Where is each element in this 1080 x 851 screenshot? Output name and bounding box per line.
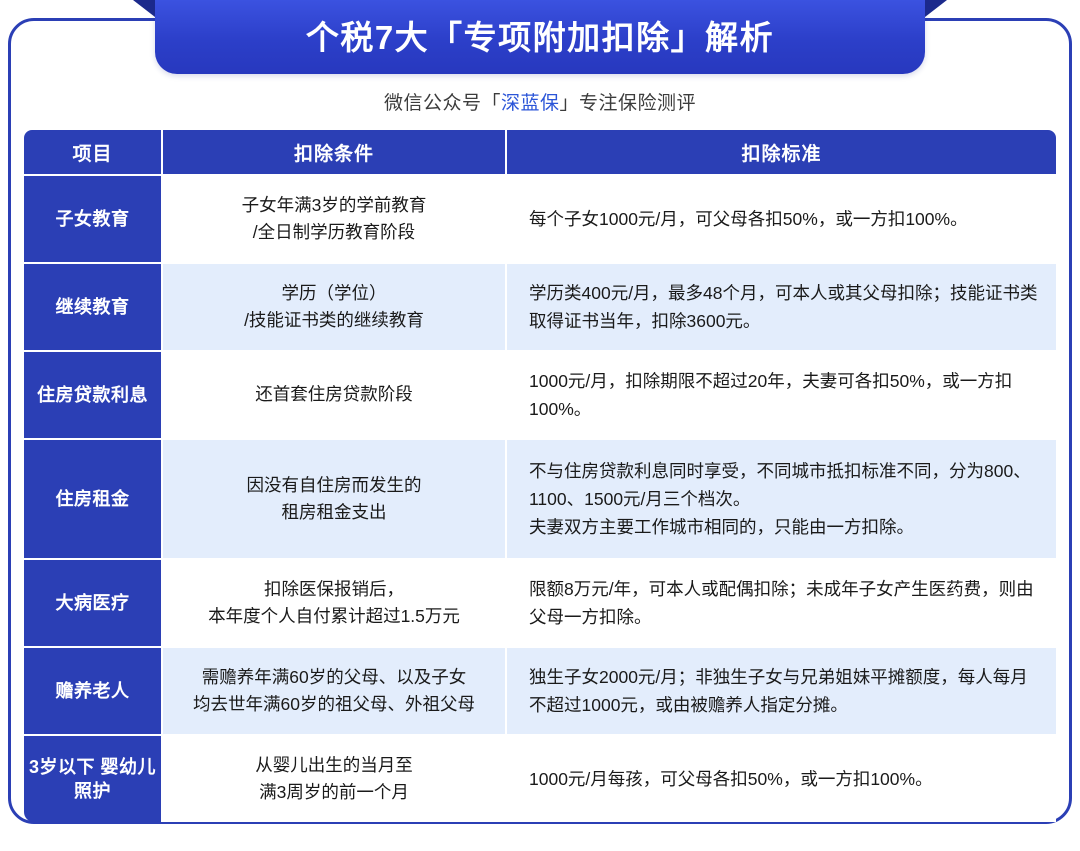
cell-condition: 子女年满3岁的学前教育 /全日制学历教育阶段 (163, 176, 507, 262)
cell-item-name: 住房租金 (24, 440, 163, 558)
subtitle: 微信公众号「深蓝保」专注保险测评 (0, 88, 1080, 115)
cell-condition: 因没有自住房而发生的 租房租金支出 (163, 440, 507, 558)
cell-item-name: 子女教育 (24, 176, 163, 262)
cell-standard: 不与住房贷款利息同时享受，不同城市抵扣标准不同，分为800、1100、1500元… (507, 440, 1056, 558)
infographic-page: 个税7大「专项附加扣除」解析 微信公众号「深蓝保」专注保险测评 深蓝保 shen… (0, 0, 1080, 851)
cell-standard: 每个子女1000元/月，可父母各扣50%，或一方扣100%。 (507, 176, 1056, 262)
column-header-item: 项目 (24, 130, 163, 174)
page-title: 个税7大「专项附加扣除」解析 (306, 21, 774, 54)
cell-condition: 还首套住房贷款阶段 (163, 352, 507, 438)
deduction-table: 项目 扣除条件 扣除标准 子女教育子女年满3岁的学前教育 /全日制学历教育阶段每… (24, 130, 1056, 822)
table-row: 大病医疗扣除医保报销后， 本年度个人自付累计超过1.5万元限额8万元/年，可本人… (24, 558, 1056, 646)
cell-condition: 从婴儿出生的当月至 满3周岁的前一个月 (163, 736, 507, 822)
table-row: 赡养老人需赡养年满60岁的父母、以及子女 均去世年满60岁的祖父母、外祖父母独生… (24, 646, 1056, 734)
table-header: 项目 扣除条件 扣除标准 (24, 130, 1056, 174)
subtitle-prefix: 微信公众号「 (384, 93, 501, 114)
cell-standard: 1000元/月，扣除期限不超过20年，夫妻可各扣50%，或一方扣100%。 (507, 352, 1056, 438)
table-row: 继续教育学历（学位） /技能证书类的继续教育学历类400元/月，最多48个月，可… (24, 262, 1056, 350)
cell-condition: 扣除医保报销后， 本年度个人自付累计超过1.5万元 (163, 560, 507, 646)
cell-item-name: 住房贷款利息 (24, 352, 163, 438)
cell-standard: 限额8万元/年，可本人或配偶扣除；未成年子女产生医药费，则由父母一方扣除。 (507, 560, 1056, 646)
ribbon-fold-left-icon (133, 0, 155, 17)
column-header-condition: 扣除条件 (163, 130, 507, 174)
table-row: 子女教育子女年满3岁的学前教育 /全日制学历教育阶段每个子女1000元/月，可父… (24, 174, 1056, 262)
cell-condition: 需赡养年满60岁的父母、以及子女 均去世年满60岁的祖父母、外祖父母 (163, 648, 507, 734)
table-header-row: 项目 扣除条件 扣除标准 (24, 130, 1056, 174)
cell-condition: 学历（学位） /技能证书类的继续教育 (163, 264, 507, 350)
cell-item-name: 赡养老人 (24, 648, 163, 734)
cell-item-name: 3岁以下 婴幼儿照护 (24, 736, 163, 822)
cell-item-name: 继续教育 (24, 264, 163, 350)
table-row: 3岁以下 婴幼儿照护从婴儿出生的当月至 满3周岁的前一个月1000元/月每孩，可… (24, 734, 1056, 822)
cell-standard: 1000元/月每孩，可父母各扣50%，或一方扣100%。 (507, 736, 1056, 822)
subtitle-suffix: 」专注保险测评 (560, 93, 697, 114)
cell-standard: 学历类400元/月，最多48个月，可本人或其父母扣除；技能证书类取得证书当年，扣… (507, 264, 1056, 350)
column-header-standard: 扣除标准 (507, 130, 1056, 174)
table-row: 住房租金因没有自住房而发生的 租房租金支出不与住房贷款利息同时享受，不同城市抵扣… (24, 438, 1056, 558)
ribbon-fold-right-icon (925, 0, 947, 17)
ribbon-body: 个税7大「专项附加扣除」解析 (155, 0, 925, 74)
table-body: 子女教育子女年满3岁的学前教育 /全日制学历教育阶段每个子女1000元/月，可父… (24, 174, 1056, 822)
cell-item-name: 大病医疗 (24, 560, 163, 646)
subtitle-brand: 深蓝保 (501, 93, 560, 114)
title-banner: 个税7大「专项附加扣除」解析 (0, 0, 1080, 78)
table-row: 住房贷款利息还首套住房贷款阶段1000元/月，扣除期限不超过20年，夫妻可各扣5… (24, 350, 1056, 438)
cell-standard: 独生子女2000元/月；非独生子女与兄弟姐妹平摊额度，每人每月不超过1000元，… (507, 648, 1056, 734)
